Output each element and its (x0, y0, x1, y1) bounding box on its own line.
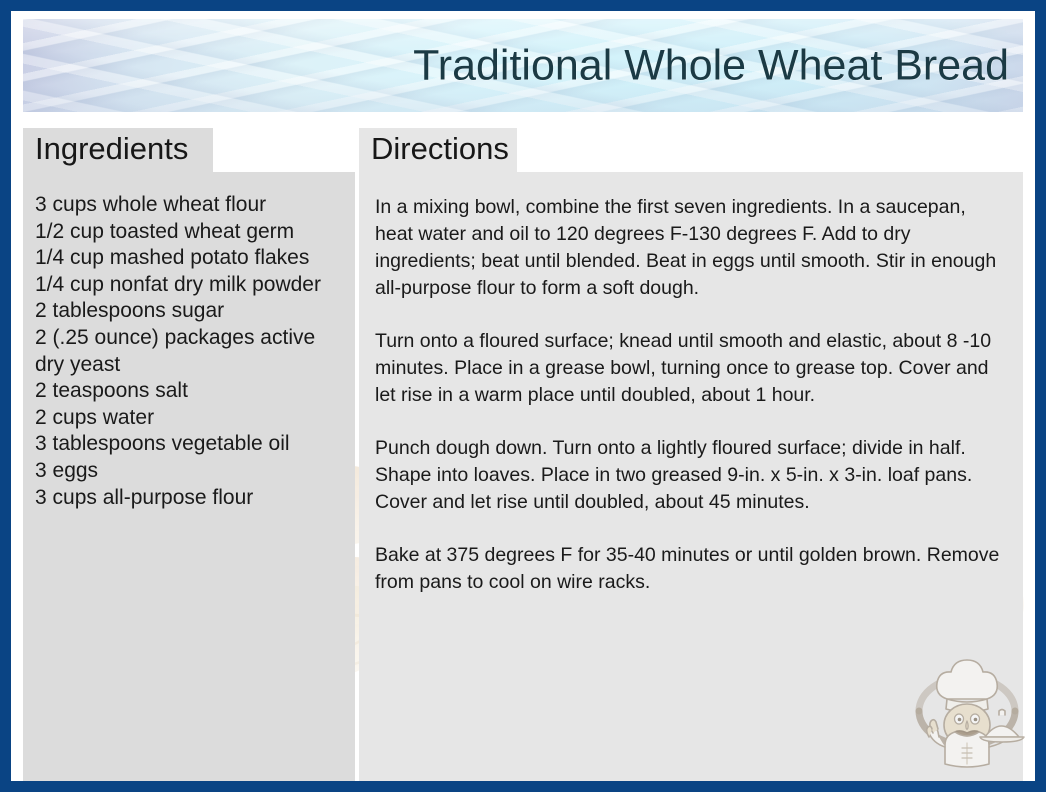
recipe-card-inner: Traditional Whole Wheat Bread (11, 11, 1035, 781)
list-item: 2 (.25 ounce) packages active dry yeast (35, 325, 345, 378)
directions-paragraphs: In a mixing bowl, combine the first seve… (375, 194, 1007, 596)
direction-step: Turn onto a floured surface; knead until… (375, 328, 1007, 409)
ingredients-panel: Ingredients 3 cups whole wheat flour 1/2… (23, 128, 355, 781)
directions-heading: Directions (359, 128, 517, 172)
title-banner: Traditional Whole Wheat Bread (23, 19, 1023, 112)
list-item: 1/4 cup nonfat dry milk powder (35, 272, 345, 299)
direction-step: In a mixing bowl, combine the first seve… (375, 194, 1007, 302)
list-item: 2 teaspoons salt (35, 378, 345, 405)
direction-step: Punch dough down. Turn onto a lightly fl… (375, 435, 1007, 516)
ingredients-list: 3 cups whole wheat flour 1/2 cup toasted… (35, 192, 345, 511)
list-item: 3 cups all-purpose flour (35, 485, 345, 512)
list-item: 3 tablespoons vegetable oil (35, 431, 345, 458)
list-item: 2 cups water (35, 405, 345, 432)
ingredients-body: 3 cups whole wheat flour 1/2 cup toasted… (23, 172, 355, 781)
list-item: 3 eggs (35, 458, 345, 485)
list-item: 3 cups whole wheat flour (35, 192, 345, 219)
list-item: 2 tablespoons sugar (35, 298, 345, 325)
recipe-card: Traditional Whole Wheat Bread (0, 0, 1046, 792)
ingredients-heading: Ingredients (23, 128, 213, 172)
directions-panel: Directions In a mixing bowl, combine the… (359, 128, 1023, 781)
list-item: 1/4 cup mashed potato flakes (35, 245, 345, 272)
page-title: Traditional Whole Wheat Bread (413, 43, 1009, 88)
directions-body: In a mixing bowl, combine the first seve… (359, 172, 1023, 781)
list-item: 1/2 cup toasted wheat germ (35, 219, 345, 246)
direction-step: Bake at 375 degrees F for 35-40 minutes … (375, 542, 1007, 596)
